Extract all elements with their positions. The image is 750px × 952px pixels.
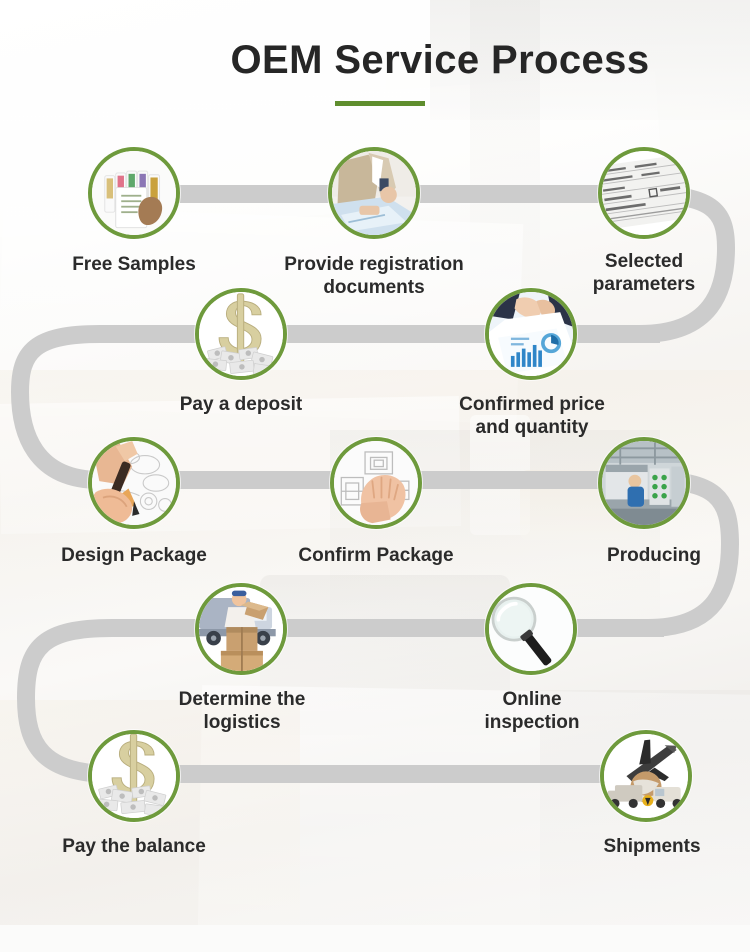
infographic-canvas: OEM Service Process xyxy=(0,0,750,952)
step-label: Determine the logistics xyxy=(148,688,336,734)
factory-line-icon xyxy=(598,437,690,529)
step-label: Selected parameters xyxy=(576,250,712,296)
dollar-money-icon xyxy=(88,730,180,822)
step-label: Pay a deposit xyxy=(153,393,329,416)
step-label: Confirm Package xyxy=(280,544,472,567)
step-label: Provide registration documents xyxy=(272,253,476,299)
title-underline xyxy=(335,101,425,106)
handshake-chart-icon xyxy=(485,288,577,380)
page-title-wrap: OEM Service Process xyxy=(0,36,750,84)
dollar-money-icon xyxy=(195,288,287,380)
hand-blueprint-icon xyxy=(330,437,422,529)
magnifier-icon xyxy=(485,583,577,675)
hand-sketching-icon xyxy=(88,437,180,529)
plane-truck-globe-icon xyxy=(600,730,692,822)
step-label: Confirmed price and quantity xyxy=(438,393,626,439)
path-turn-left-upper xyxy=(20,334,100,480)
step-label: Free Samples xyxy=(38,253,230,276)
step-label: Shipments xyxy=(582,835,722,858)
spec-form-icon xyxy=(598,147,690,239)
step-label: Producing xyxy=(594,544,714,567)
step-label: Online inspection xyxy=(452,688,612,734)
step-label: Pay the balance xyxy=(38,835,230,858)
truck-boxes-icon xyxy=(195,583,287,675)
step-label: Design Package xyxy=(38,544,230,567)
page-title: OEM Service Process xyxy=(0,36,750,84)
sample-packets-icon xyxy=(88,147,180,239)
person-documents-icon xyxy=(328,147,420,239)
